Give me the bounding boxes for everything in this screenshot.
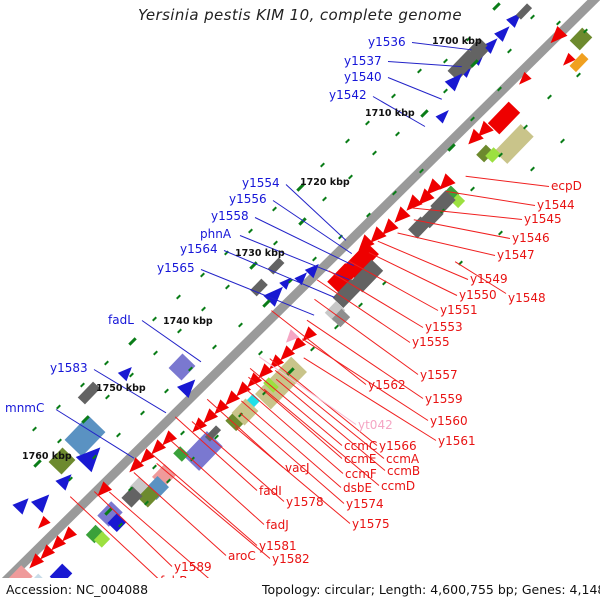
gene-label-red[interactable]: y1578 bbox=[286, 495, 324, 509]
scale-tick-mark bbox=[152, 465, 157, 470]
scale-tick-mark bbox=[576, 73, 581, 78]
scale-tick-mark bbox=[105, 395, 110, 400]
scale-tick-mark bbox=[530, 167, 535, 172]
scale-tick-mark bbox=[80, 383, 85, 388]
gene-label-red[interactable]: y1581 bbox=[259, 539, 297, 553]
gene-label-red[interactable]: y1560 bbox=[430, 414, 468, 428]
scale-tick-mark bbox=[262, 299, 270, 307]
scale-tick-mark bbox=[272, 207, 277, 212]
gene-label-blue[interactable]: mnmC bbox=[5, 401, 44, 415]
scale-tick-mark bbox=[547, 95, 552, 100]
scale-tick-mark bbox=[443, 89, 448, 94]
gene-label-red[interactable]: y1582 bbox=[272, 552, 310, 566]
leader-line bbox=[286, 184, 347, 241]
scale-tick-mark bbox=[507, 49, 512, 54]
gene-label-red[interactable]: y1546 bbox=[512, 231, 550, 245]
scale-tick-mark bbox=[443, 59, 448, 64]
scale-tick-mark bbox=[177, 329, 182, 334]
genome-viewer: Yersinia pestis KIM 10, complete genome … bbox=[0, 0, 600, 600]
scale-tick-mark bbox=[201, 307, 206, 312]
gene-label-blue[interactable]: y1565 bbox=[157, 261, 195, 275]
scale-tick-mark bbox=[153, 351, 158, 356]
scale-tick-mark bbox=[258, 351, 263, 356]
gene-label-red[interactable]: y1549 bbox=[470, 272, 508, 286]
gene-label-red[interactable]: ccmE bbox=[344, 452, 376, 466]
leader-line bbox=[151, 453, 257, 546]
scale-tick-mark bbox=[498, 231, 503, 236]
gene-label-red[interactable]: ccmB bbox=[387, 464, 420, 478]
scale-tick-mark bbox=[470, 187, 475, 192]
gene-label-blue[interactable]: fadL bbox=[108, 313, 134, 327]
gene-label-red[interactable]: y1557 bbox=[420, 368, 458, 382]
gene-label-red[interactable]: y1547 bbox=[497, 248, 535, 262]
gene-label-red[interactable]: y1544 bbox=[537, 198, 575, 212]
gene-label-red[interactable]: y1589 bbox=[174, 560, 212, 574]
gene-label-red[interactable]: y1545 bbox=[524, 212, 562, 226]
kbp-scale-label: 1710 kbp bbox=[365, 108, 415, 119]
scale-tick-mark bbox=[391, 94, 396, 99]
accession-text: Accession: NC_004088 bbox=[6, 582, 148, 597]
gene-label-red[interactable]: ccmC bbox=[344, 439, 377, 453]
scale-tick-mark bbox=[334, 325, 339, 330]
scale-tick-mark bbox=[164, 389, 169, 394]
gene-label-red[interactable]: y1574 bbox=[346, 497, 384, 511]
scale-tick-mark bbox=[345, 139, 350, 144]
scale-tick-mark bbox=[128, 337, 136, 345]
gene-label-blue[interactable]: phnA bbox=[200, 227, 231, 241]
gene-label-blue[interactable]: y1554 bbox=[242, 176, 280, 190]
scale-tick-mark bbox=[104, 361, 109, 366]
gene-label-blue[interactable]: y1583 bbox=[50, 361, 88, 375]
scale-tick-mark bbox=[420, 109, 428, 117]
gene-label-red[interactable]: dsbE bbox=[343, 481, 372, 495]
leader-line bbox=[466, 176, 549, 187]
scale-tick-mark bbox=[212, 345, 217, 350]
gene-arrow[interactable] bbox=[34, 516, 50, 532]
scale-tick-mark bbox=[200, 273, 205, 278]
kbp-scale-label: 1700 kbp bbox=[432, 36, 482, 47]
gene-label-blue[interactable]: y1564 bbox=[180, 242, 218, 256]
gene-label-red[interactable]: y1548 bbox=[508, 291, 546, 305]
gene-label-blue[interactable]: y1558 bbox=[211, 209, 249, 223]
scale-tick-mark bbox=[225, 285, 230, 290]
scale-tick-mark bbox=[248, 229, 253, 234]
leader-line bbox=[397, 233, 495, 256]
scale-tick-mark bbox=[560, 139, 565, 144]
leader-line bbox=[388, 61, 462, 67]
gene-label-blue[interactable]: y1536 bbox=[368, 35, 406, 49]
kbp-scale-label: 1750 kbp bbox=[96, 383, 146, 394]
gene-label-red[interactable]: y1562 bbox=[368, 378, 406, 392]
scale-tick-mark bbox=[395, 132, 400, 137]
gene-arrow[interactable] bbox=[118, 363, 136, 381]
scale-tick-mark bbox=[417, 69, 422, 74]
scale-tick-mark bbox=[57, 439, 62, 444]
scale-tick-mark bbox=[322, 197, 327, 202]
scale-tick-mark bbox=[176, 295, 181, 300]
scale-tick-mark bbox=[320, 163, 325, 168]
scale-tick-mark bbox=[180, 431, 185, 436]
scale-tick-mark bbox=[365, 121, 370, 126]
gene-label-blue[interactable]: y1537 bbox=[344, 54, 382, 68]
scale-tick-mark bbox=[372, 151, 377, 156]
kbp-scale-label: 1730 kbp bbox=[235, 248, 285, 259]
kbp-scale-label: 1720 kbp bbox=[300, 177, 350, 188]
gene-label-red[interactable]: y1561 bbox=[438, 434, 476, 448]
kbp-scale-label: 1760 kbp bbox=[22, 451, 72, 462]
gene-label-red[interactable]: y1575 bbox=[352, 517, 390, 531]
gene-label-pink[interactable]: yt042 bbox=[358, 418, 393, 432]
gene-label-red[interactable]: aroC bbox=[228, 549, 256, 563]
topology-text: Topology: circular; Length: 4,600,755 bp… bbox=[262, 582, 600, 597]
gene-label-blue[interactable]: y1542 bbox=[329, 88, 367, 102]
gene-label-red[interactable]: y1553 bbox=[425, 320, 463, 334]
scale-tick-mark bbox=[32, 427, 37, 432]
gene-box[interactable] bbox=[570, 28, 593, 51]
scale-tick-mark bbox=[238, 323, 243, 328]
gene-label-red[interactable]: y1550 bbox=[459, 288, 497, 302]
scale-tick-mark bbox=[140, 411, 145, 416]
gene-label-blue[interactable]: y1540 bbox=[344, 70, 382, 84]
gene-label-red[interactable]: y1551 bbox=[440, 303, 478, 317]
gene-label-red[interactable]: ecpD bbox=[551, 179, 582, 193]
leader-line bbox=[369, 252, 458, 296]
gene-label-red[interactable]: y1566 bbox=[379, 439, 417, 453]
gene-label-red[interactable]: ccmD bbox=[381, 479, 415, 493]
gene-arrow[interactable] bbox=[436, 106, 453, 123]
gene-label-red[interactable]: y1559 bbox=[425, 392, 463, 406]
gene-label-blue[interactable]: y1556 bbox=[229, 192, 267, 206]
gene-label-red[interactable]: fadJ bbox=[266, 518, 289, 532]
scale-tick-mark bbox=[273, 241, 278, 246]
kbp-scale-label: 1740 kbp bbox=[163, 316, 213, 327]
scale-tick-mark bbox=[152, 317, 157, 322]
leader-line bbox=[414, 219, 510, 239]
gene-label-red[interactable]: y1555 bbox=[412, 335, 450, 349]
leader-line bbox=[388, 77, 442, 100]
gene-arrow[interactable] bbox=[12, 493, 33, 514]
gene-label-red[interactable]: ccmF bbox=[345, 467, 377, 481]
scale-tick-mark bbox=[116, 433, 121, 438]
gene-label-red[interactable]: fadI bbox=[259, 484, 282, 498]
gene-label-red[interactable]: vacJ bbox=[285, 461, 310, 475]
leader-line bbox=[307, 320, 424, 399]
gene-arrow[interactable] bbox=[31, 489, 55, 513]
status-bar: Accession: NC_004088 Topology: circular;… bbox=[0, 578, 600, 600]
